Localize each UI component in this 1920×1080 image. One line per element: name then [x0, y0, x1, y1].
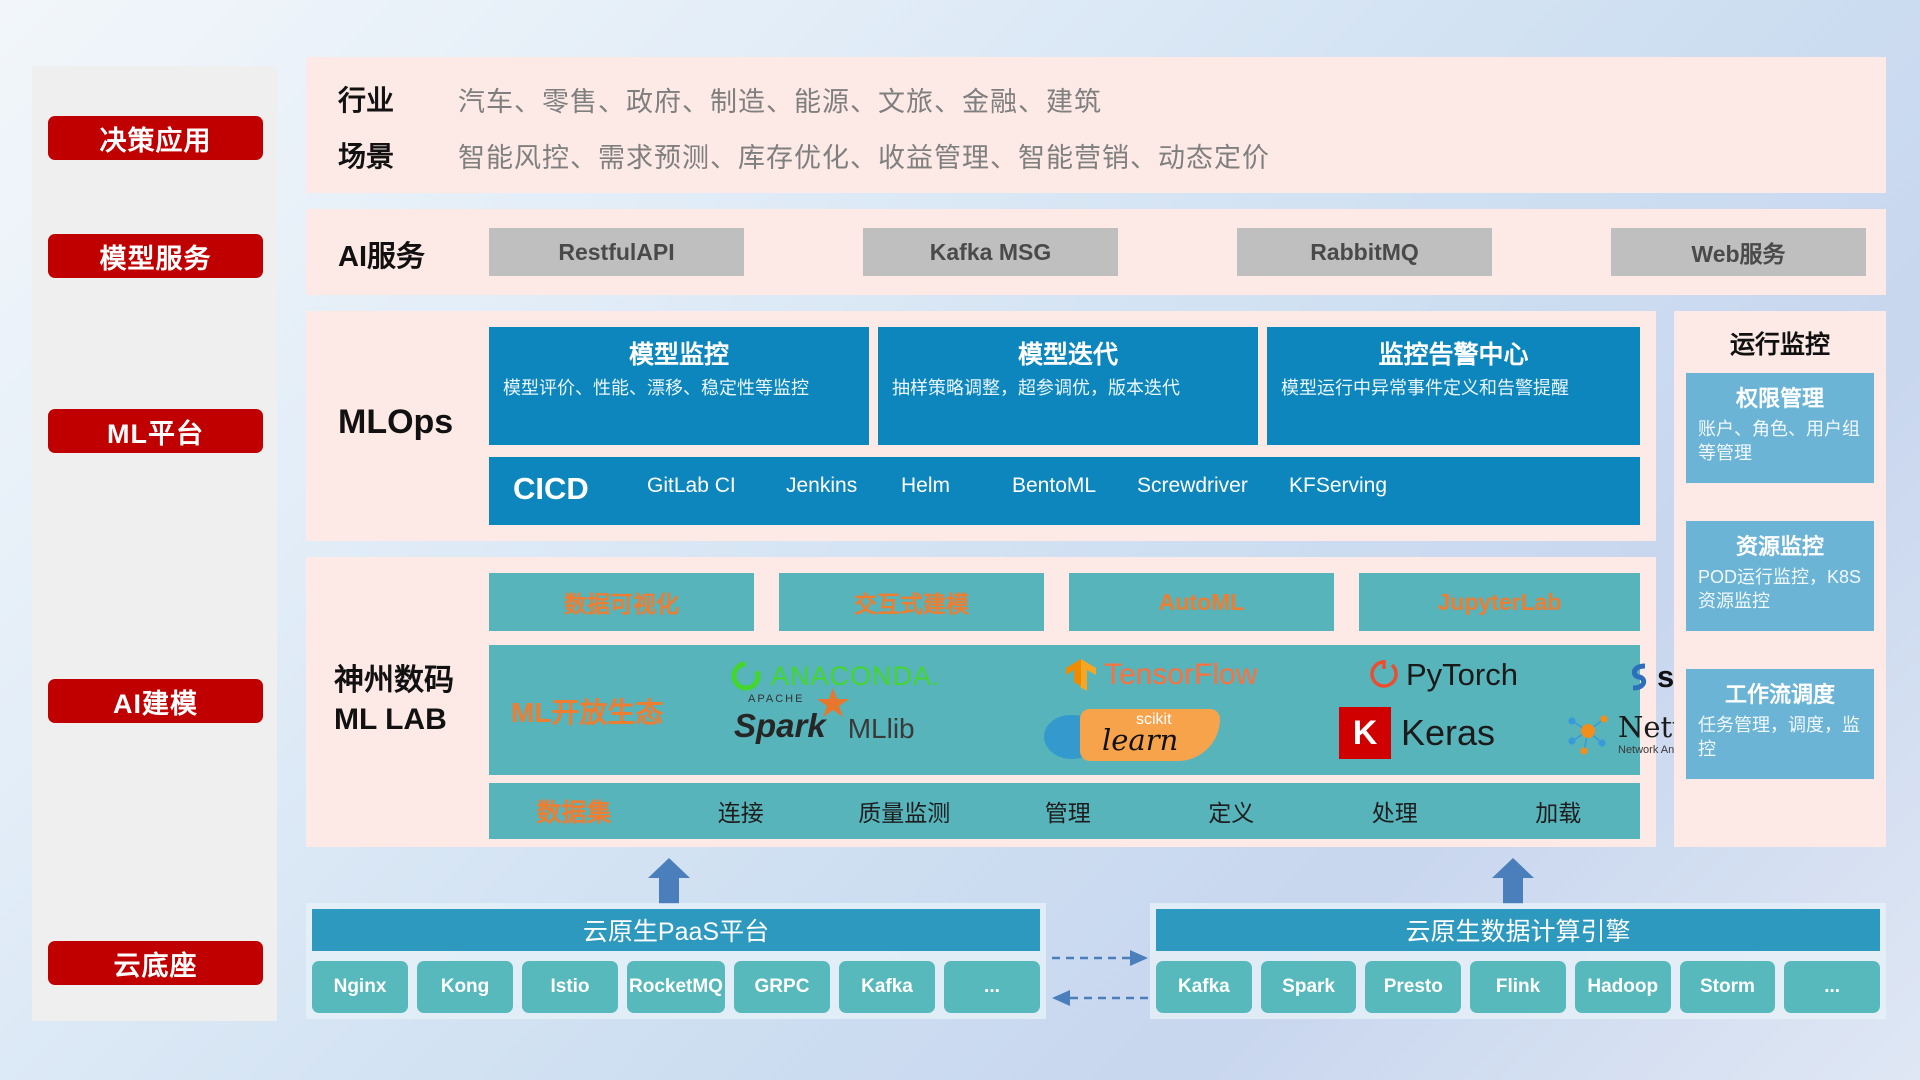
mllib-wordmark: MLlib: [848, 713, 915, 745]
tool-chip-interactive-modeling[interactable]: 交互式建模: [779, 573, 1044, 631]
bidirectional-dashed-connector: [1052, 940, 1148, 1020]
rail-item-ai-modeling[interactable]: AI建模: [48, 679, 263, 723]
industry-label: 行业: [338, 79, 458, 119]
dataset-item-connect[interactable]: 连接: [659, 794, 823, 828]
mlops-card-desc: 模型评价、性能、漂移、稳定性等监控: [503, 377, 855, 401]
cicd-bar: CICD GitLab CI Jenkins Helm BentoML Scre…: [489, 457, 1640, 525]
cloud-native-paas-panel: 云原生PaaS平台 Nginx Kong Istio RocketMQ GRPC…: [306, 903, 1046, 1019]
engine-chip-more[interactable]: ...: [1784, 961, 1880, 1013]
networkx-graph-icon: [1564, 711, 1612, 757]
mlops-card-model-monitoring[interactable]: 模型监控 模型评价、性能、漂移、稳定性等监控: [489, 327, 869, 445]
monitor-card-permission[interactable]: 权限管理 账户、角色、用户组等管理: [1686, 373, 1874, 483]
ai-service-label: AI服务: [338, 233, 425, 275]
runtime-monitor-title: 运行监控: [1674, 325, 1886, 361]
ml-lab-label: 神州数码 ML LAB: [334, 661, 454, 739]
ml-lab-label-line2: ML LAB: [334, 700, 454, 739]
dataset-item-define[interactable]: 定义: [1150, 794, 1314, 828]
monitor-card-title: 资源监控: [1698, 529, 1862, 561]
rail-item-cloud-base[interactable]: 云底座: [48, 941, 263, 985]
cicd-item-kfserving[interactable]: KFServing: [1289, 473, 1401, 499]
ml-lab-label-line1: 神州数码: [334, 661, 454, 700]
paas-chip-grpc[interactable]: GRPC: [734, 961, 830, 1013]
engine-chip-flink[interactable]: Flink: [1470, 961, 1566, 1013]
mlops-band: MLOps 模型监控 模型评价、性能、漂移、稳定性等监控 模型迭代 抽样策略调整…: [306, 311, 1656, 541]
ai-service-chip-kafka-msg[interactable]: Kafka MSG: [863, 228, 1118, 276]
cicd-item-helm[interactable]: Helm: [901, 473, 1005, 499]
dataset-item-load[interactable]: 加载: [1477, 794, 1641, 828]
paas-chip-kong[interactable]: Kong: [417, 961, 513, 1013]
monitor-card-title: 权限管理: [1698, 381, 1862, 413]
spark-wordmark: Spark: [734, 707, 826, 744]
monitor-card-resource[interactable]: 资源监控 POD运行监控，K8S资源监控: [1686, 521, 1874, 631]
engine-chip-spark[interactable]: Spark: [1261, 961, 1357, 1013]
tool-chip-jupyterlab[interactable]: JupyterLab: [1359, 573, 1640, 631]
monitor-card-desc: 任务管理，调度，监控: [1698, 713, 1862, 761]
cicd-item-gitlab-ci[interactable]: GitLab CI: [647, 473, 751, 499]
paas-chip-kafka[interactable]: Kafka: [839, 961, 935, 1013]
rail-item-model-service[interactable]: 模型服务: [48, 234, 263, 278]
engine-chip-hadoop[interactable]: Hadoop: [1575, 961, 1671, 1013]
paas-chip-rocketmq[interactable]: RocketMQ: [627, 961, 725, 1013]
learn-text: learn: [1102, 723, 1178, 757]
cicd-title: CICD: [513, 471, 589, 507]
tool-chip-data-visualization[interactable]: 数据可视化: [489, 573, 754, 631]
engine-chip-storm[interactable]: Storm: [1680, 961, 1776, 1013]
cicd-item-screwdriver[interactable]: Screwdriver: [1137, 473, 1261, 499]
rail-item-decision-app[interactable]: 决策应用: [48, 116, 263, 160]
dataset-title: 数据集: [489, 793, 659, 829]
engine-chip-presto[interactable]: Presto: [1365, 961, 1461, 1013]
upward-arrow-paas: [646, 858, 692, 902]
engine-chip-kafka[interactable]: Kafka: [1156, 961, 1252, 1013]
mlops-card-alert-center[interactable]: 监控告警中心 模型运行中异常事件定义和告警提醒: [1267, 327, 1640, 445]
cloud-native-paas-title: 云原生PaaS平台: [312, 909, 1040, 951]
paas-chip-istio[interactable]: Istio: [522, 961, 618, 1013]
anaconda-wordmark: ANACONDA.: [771, 661, 941, 692]
tensorflow-logo: TensorFlow: [1064, 657, 1257, 693]
monitor-card-desc: 账户、角色、用户组等管理: [1698, 417, 1862, 465]
ml-open-ecosystem-label: ML开放生态: [511, 691, 663, 731]
tool-chip-automl[interactable]: AutoML: [1069, 573, 1334, 631]
cloud-native-data-engine-panel: 云原生数据计算引擎 Kafka Spark Presto Flink Hadoo…: [1150, 903, 1886, 1019]
cloud-native-data-engine-title: 云原生数据计算引擎: [1156, 909, 1880, 951]
dataset-bar: 数据集 连接 质量监测 管理 定义 处理 加载: [489, 783, 1640, 839]
mlops-label: MLOps: [338, 403, 453, 442]
ai-service-chip-restfulapi[interactable]: RestfulAPI: [489, 228, 744, 276]
industry-scenario-band: 行业 汽车、零售、政府、制造、能源、文旅、金融、建筑 场景 智能风控、需求预测、…: [306, 57, 1886, 193]
ai-service-chip-rabbitmq[interactable]: RabbitMQ: [1237, 228, 1492, 276]
keras-logo: K Keras: [1339, 707, 1495, 759]
spark-apache-text: APACHE: [748, 693, 804, 705]
pytorch-logo: PyTorch: [1369, 657, 1518, 693]
mlops-card-model-iteration[interactable]: 模型迭代 抽样策略调整，超参调优，版本迭代: [878, 327, 1258, 445]
tensorflow-wordmark: TensorFlow: [1104, 658, 1257, 692]
monitor-card-desc: POD运行监控，K8S资源监控: [1698, 565, 1862, 613]
monitor-card-title: 工作流调度: [1698, 677, 1862, 709]
ai-modeling-band: 神州数码 ML LAB 数据可视化 交互式建模 AutoML JupyterLa…: [306, 557, 1656, 847]
stack-layer-rail: 决策应用 模型服务 ML平台 AI建模 云底座: [32, 66, 277, 1021]
keras-mark: K: [1353, 714, 1378, 753]
mlops-card-desc: 抽样策略调整，超参调优，版本迭代: [892, 377, 1244, 401]
ml-open-ecosystem-box: ML开放生态 ANACONDA. TensorFlow: [489, 645, 1640, 775]
spark-mllib-logo: APACHE Spark MLlib: [734, 707, 915, 745]
mlops-card-title: 模型迭代: [892, 335, 1244, 371]
paas-chip-more[interactable]: ...: [944, 961, 1040, 1013]
rail-item-ml-platform[interactable]: ML平台: [48, 409, 263, 453]
mlops-card-title: 模型监控: [503, 335, 855, 371]
cicd-item-jenkins[interactable]: Jenkins: [786, 473, 890, 499]
paas-chip-nginx[interactable]: Nginx: [312, 961, 408, 1013]
runtime-monitor-column: 运行监控 权限管理 账户、角色、用户组等管理 资源监控 POD运行监控，K8S资…: [1674, 311, 1886, 847]
scikit-learn-logo: scikit learn: [1044, 709, 1264, 765]
pytorch-wordmark: PyTorch: [1406, 657, 1518, 693]
scenario-label: 场景: [338, 135, 458, 175]
dataset-item-quality[interactable]: 质量监测: [823, 794, 987, 828]
upward-arrow-data-engine: [1490, 858, 1536, 902]
industry-values: 汽车、零售、政府、制造、能源、文旅、金融、建筑: [458, 80, 1102, 119]
ai-service-chip-web-service[interactable]: Web服务: [1611, 228, 1866, 276]
spark-star-icon: [816, 687, 850, 719]
mlops-card-title: 监控告警中心: [1281, 335, 1626, 371]
cicd-item-bentoml[interactable]: BentoML: [1012, 473, 1116, 499]
ai-service-band: AI服务 RestfulAPI Kafka MSG RabbitMQ Web服务: [306, 209, 1886, 295]
monitor-card-workflow[interactable]: 工作流调度 任务管理，调度，监控: [1686, 669, 1874, 779]
keras-wordmark: Keras: [1401, 712, 1495, 754]
dataset-item-manage[interactable]: 管理: [986, 794, 1150, 828]
mlops-card-desc: 模型运行中异常事件定义和告警提醒: [1281, 377, 1626, 401]
scenario-values: 智能风控、需求预测、库存优化、收益管理、智能营销、动态定价: [458, 136, 1270, 175]
dataset-item-process[interactable]: 处理: [1313, 794, 1477, 828]
